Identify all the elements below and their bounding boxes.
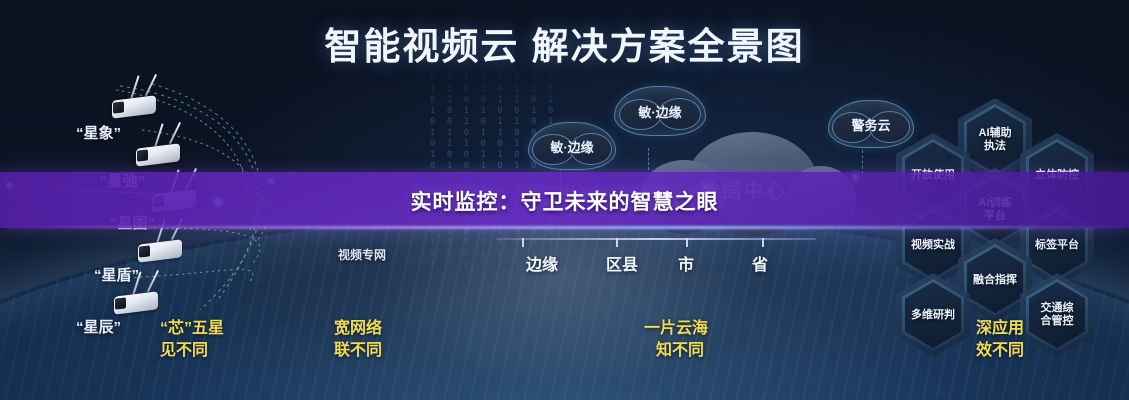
camera-label-1: “星象” [76, 122, 121, 143]
camera-lens-icon [115, 297, 126, 309]
hexagon-label: AI辅助 执法 [979, 127, 1012, 153]
camera-device-4 [134, 236, 188, 262]
network-caption-line1: 宽网络 [334, 318, 382, 339]
axis-tick [616, 238, 618, 247]
camera-device-5 [110, 288, 164, 314]
camera-lens-icon [139, 245, 150, 257]
axis-label-city: 市 [678, 251, 694, 275]
overlay-banner-glow [0, 226, 1129, 229]
camera-label-5: “星辰” [76, 316, 121, 337]
camera-lens-icon [113, 101, 124, 113]
application-caption-line1: 深应用 [976, 318, 1024, 339]
network-label: 视频专网 [338, 246, 386, 263]
cloud-bubble-label: 警务云 [851, 115, 890, 134]
cloud-bubble-label: 敏·边缘 [638, 102, 681, 121]
cloud-caption-line1: 一片云海 [644, 318, 708, 339]
cloud-bubble-label: 敏·边缘 [550, 137, 593, 156]
camera-device-1 [108, 92, 162, 118]
axis-tick [686, 238, 688, 247]
cloud-caption-line2: 知不同 [656, 340, 704, 361]
hexagon-label: 交通综 合管控 [1041, 302, 1074, 328]
page-title: 智能视频云 解决方案全景图 [0, 16, 1129, 70]
axis-label-edge: 边缘 [526, 251, 558, 275]
application-caption-line2: 效不同 [976, 340, 1024, 361]
left-caption-line2: 见不同 [160, 340, 208, 361]
hexagon-label: 融合指挥 [973, 274, 1017, 287]
camera-label-4: “星盾” [94, 264, 139, 285]
hierarchy-axis-line [496, 238, 816, 240]
cloud-bubble-edge-top[interactable]: 敏·边缘 [614, 86, 706, 136]
solution-overview-poster: 1 0 1 0 0 1 1 0 0 1 1 0 1 0 0 1 1 1 0 1 … [0, 0, 1129, 400]
network-caption-line2: 联不同 [334, 340, 382, 361]
axis-label-province: 省 [752, 251, 768, 275]
cloud-bubble-police[interactable]: 警务云 [828, 100, 914, 148]
axis-label-county: 区县 [606, 251, 638, 275]
hexagon-label: 标签平台 [1035, 239, 1079, 252]
overlay-banner-text: 实时监控：守卫未来的智慧之眼 [0, 186, 1129, 216]
axis-tick [522, 238, 524, 247]
left-caption-line1: “芯”五星 [160, 318, 224, 339]
hexagon-label: 多维研判 [911, 309, 955, 322]
axis-tick [762, 238, 764, 247]
hexagon-label: 视频实战 [911, 239, 955, 252]
